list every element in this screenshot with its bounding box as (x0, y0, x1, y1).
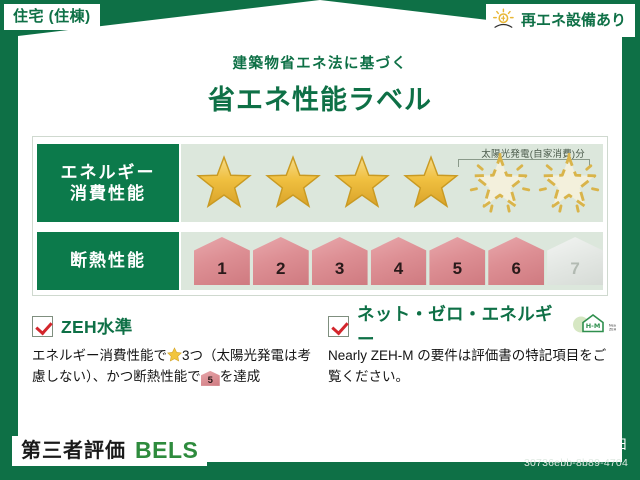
criteria-statements: ZEH水準 エネルギー消費性能で3つ（太陽光発電は考慮しない）、かつ断熱性能で5… (32, 312, 608, 412)
label-footer: 第三者評価 BELS D-ROOMフィオーレ 評価日 2025年7月16日 30… (0, 424, 640, 480)
star-dashed-icon (538, 152, 600, 214)
zeh-standard-header: ZEH水準 (32, 312, 320, 340)
renewable-badge-label: 再エネ設備あり (521, 13, 626, 28)
bels-certification-chip: 第三者評価 BELS (12, 436, 207, 466)
zeh-standard-body: エネルギー消費性能で3つ（太陽光発電は考慮しない）、かつ断熱性能で5を達成 (32, 346, 320, 388)
inline-level-badge: 5 (201, 371, 220, 386)
star-filled-icon (262, 152, 324, 214)
project-name: D-ROOMフィオーレ (208, 442, 338, 462)
insulation-performance-label: 断熱性能 (37, 232, 179, 290)
insulation-level-badge-7: 7 (547, 237, 603, 285)
net-zero-energy-body: Nearly ZEH-M の要件は評価書の特記項目をご覧ください。 (328, 346, 616, 388)
energy-performance-label: エネルギー 消費性能 (37, 144, 179, 222)
net-zero-energy-title: ネット・ゼロ・エネルギー (357, 301, 560, 351)
renewable-equipment-badge: 再エネ設備あり (486, 4, 635, 37)
insulation-level-badge-5: 5 (429, 237, 485, 285)
star-filled-icon (331, 152, 393, 214)
zeh-body-part1: エネルギー消費性能で (32, 348, 167, 363)
evaluation-id: 30736ebb-8b89-4704 (524, 457, 628, 469)
svg-text:ZEH-M: ZEH-M (609, 327, 616, 331)
star-filled-icon (400, 152, 462, 214)
energy-label-line1: エネルギー (61, 162, 156, 183)
svg-text:Nearly: Nearly (609, 323, 616, 327)
zeh-m-nearly-logo-icon: H-M Nearly ZEH-M (568, 311, 616, 342)
insulation-label-text: 断熱性能 (70, 250, 146, 271)
zeh-standard-title: ZEH水準 (61, 314, 133, 339)
zeh-standard-checkbox[interactable] (32, 316, 53, 337)
evaluation-date: 評価日 2025年7月16日 (486, 433, 628, 453)
energy-performance-row: エネルギー 消費性能 太陽光発電(自家消費)分 (33, 141, 607, 225)
zeh-standard-statement: ZEH水準 エネルギー消費性能で3つ（太陽光発電は考慮しない）、かつ断熱性能で5… (32, 312, 320, 388)
insulation-level-badges: 1234567 (181, 232, 603, 290)
net-zero-energy-statement: ネット・ゼロ・エネルギー H-M Nearly ZEH-M Nearly ZEH… (328, 312, 616, 388)
star-dashed-icon (469, 152, 531, 214)
energy-star-rating (181, 144, 603, 222)
zeh-body-part3: を達成 (220, 369, 261, 384)
svg-text:H-M: H-M (586, 322, 601, 330)
net-zero-energy-checkbox[interactable] (328, 316, 349, 337)
title-subtitle: 建築物省エネ法に基づく (0, 52, 640, 73)
inline-star-icon (167, 347, 182, 362)
star-filled-icon (193, 152, 255, 214)
energy-rating-area: 太陽光発電(自家消費)分 (181, 144, 603, 222)
label-title-block: 建築物省エネ法に基づく 省エネ性能ラベル (0, 52, 640, 117)
insulation-level-badge-4: 4 (371, 237, 427, 285)
insulation-level-badge-1: 1 (194, 237, 250, 285)
title-main: 省エネ性能ラベル (0, 78, 640, 117)
bels-japanese-label: 第三者評価 (21, 441, 126, 461)
insulation-performance-row: 断熱性能 1234567 (33, 229, 607, 293)
energy-label-line2: 消費性能 (70, 183, 146, 204)
net-zero-energy-header: ネット・ゼロ・エネルギー H-M Nearly ZEH-M (328, 312, 616, 340)
performance-card: エネルギー 消費性能 太陽光発電(自家消費)分 断熱性能 1234567 (32, 136, 608, 296)
insulation-level-badge-3: 3 (312, 237, 368, 285)
building-type-badge: 住宅 (住棟) (4, 4, 100, 30)
bels-logo-text: BELS (135, 439, 198, 462)
sun-solar-icon (492, 8, 516, 32)
insulation-level-badge-6: 6 (488, 237, 544, 285)
insulation-level-badge-2: 2 (253, 237, 309, 285)
insulation-rating-area: 1234567 (181, 232, 603, 290)
